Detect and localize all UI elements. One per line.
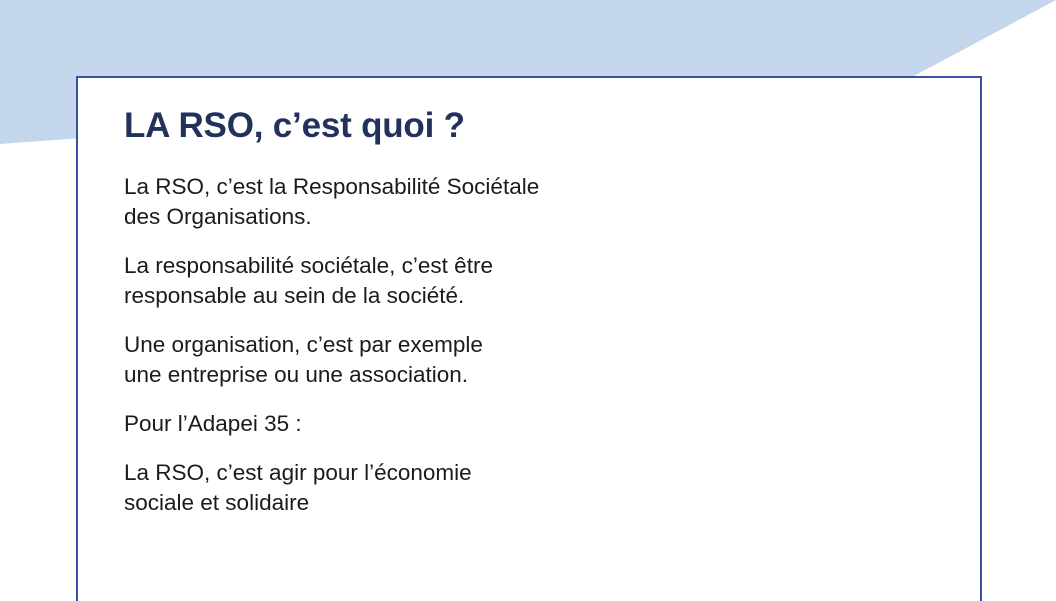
paragraph-economie-sociale: La RSO, c’est agir pour l’économie socia…: [124, 458, 744, 518]
content-card: LA RSO, c’est quoi ? La RSO, c’est la Re…: [76, 76, 982, 601]
paragraph-definition-responsabilite: La responsabilité sociétale, c’est être …: [124, 251, 744, 311]
paragraph-definition-organisation: Une organisation, c’est par exemple une …: [124, 330, 744, 390]
text-column: LA RSO, c’est quoi ? La RSO, c’est la Re…: [124, 106, 744, 518]
paragraph-adapei-intro: Pour l’Adapei 35 :: [124, 409, 744, 439]
paragraph-definition-rso: La RSO, c’est la Responsabilité Sociétal…: [124, 172, 744, 232]
page-title: LA RSO, c’est quoi ?: [124, 106, 744, 146]
poster-page: LA RSO, c’est quoi ? La RSO, c’est la Re…: [0, 0, 1056, 601]
